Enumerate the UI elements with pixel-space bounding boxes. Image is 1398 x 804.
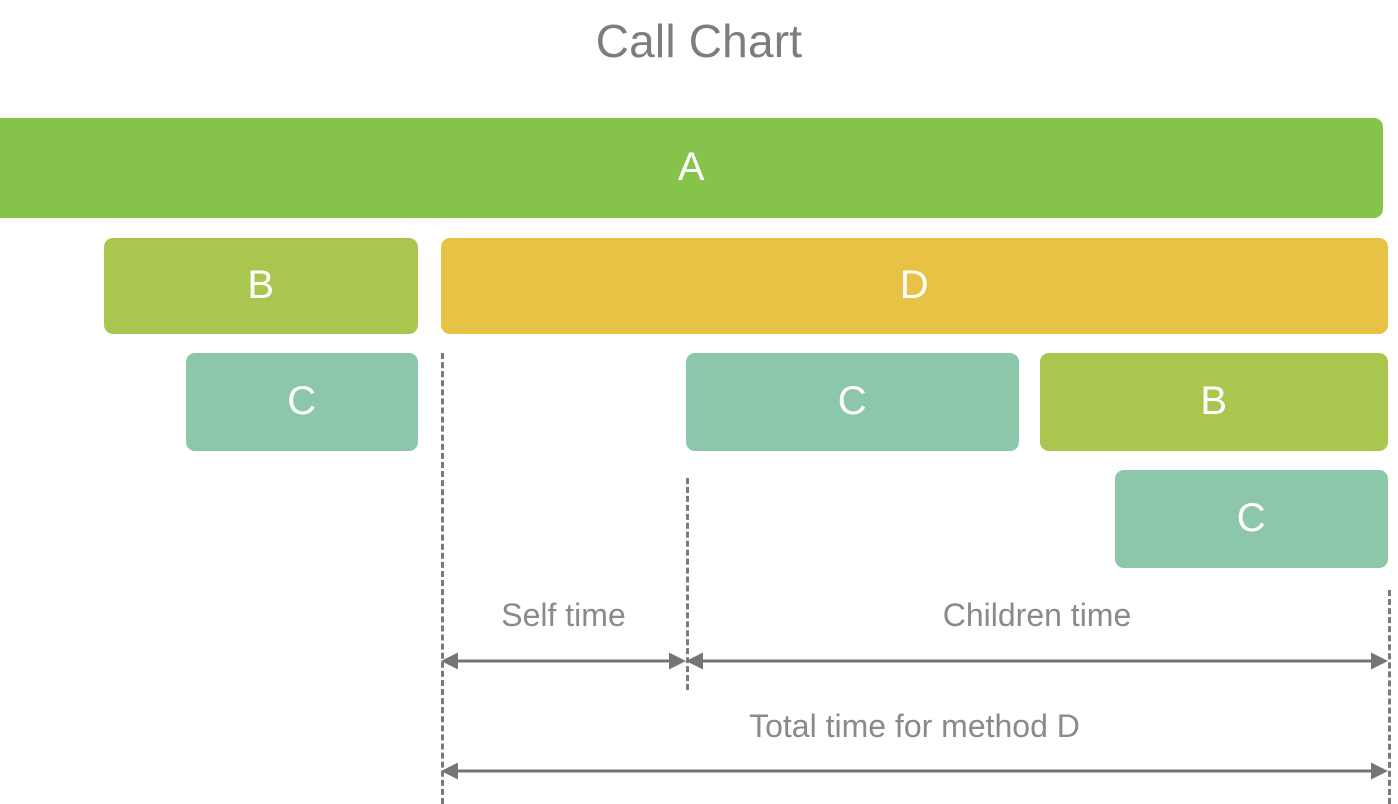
flame-bar-label: B: [1200, 381, 1227, 421]
call-chart-canvas: Call Chart ABDCCBC Self timeChildren tim…: [0, 0, 1398, 804]
annotation-label-self-time: Self time: [441, 595, 686, 635]
annotation-label-children-time: Children time: [686, 595, 1388, 635]
flame-bar-b-d1[interactable]: B: [104, 238, 418, 334]
flame-bar-c-d2[interactable]: C: [186, 353, 418, 451]
flame-bar-label: C: [1237, 498, 1266, 538]
flame-bar-label: A: [678, 147, 705, 187]
annotation-arrow-total-time: [441, 758, 1388, 784]
flame-bar-label: B: [247, 265, 274, 305]
flame-bar-c-d3[interactable]: C: [1115, 470, 1388, 568]
annotation-arrow-self-time: [441, 648, 686, 674]
flame-bar-label: C: [838, 381, 867, 421]
flame-bar-b-d2[interactable]: B: [1040, 353, 1388, 451]
flame-bar-c-d2[interactable]: C: [686, 353, 1019, 451]
annotation-arrow-children-time: [686, 648, 1388, 674]
flame-bar-label: D: [900, 265, 929, 305]
page-title: Call Chart: [0, 10, 1398, 72]
flame-bar-a-d0[interactable]: A: [0, 118, 1383, 218]
flame-bar-d-d1[interactable]: D: [441, 238, 1388, 334]
flame-bar-label: C: [287, 381, 316, 421]
guide-line-method-d-end: [1388, 590, 1391, 804]
annotation-label-total-time: Total time for method D: [441, 706, 1388, 746]
